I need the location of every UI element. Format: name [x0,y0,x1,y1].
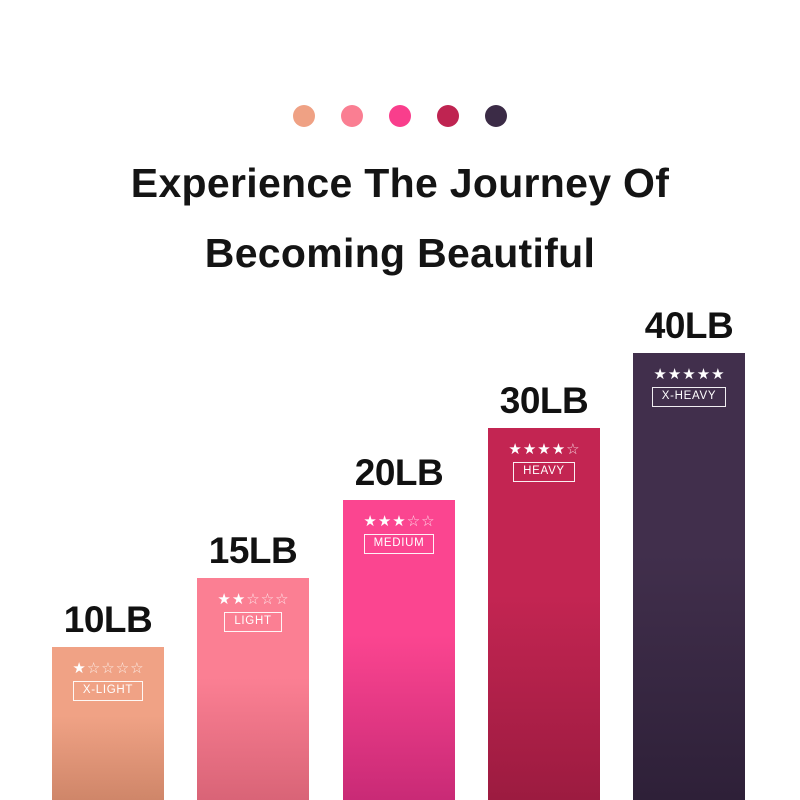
bar-30lb-fill [488,428,600,800]
bar-40lb-grade-label: X-HEAVY [652,387,727,407]
bar-30lb[interactable]: 30LB★★★★☆HEAVY [488,428,600,800]
star-empty-icon: ☆ [261,592,274,607]
star-filled-icon: ★ [523,442,536,457]
bar-40lb-star-rating: ★★★★★ [653,367,724,382]
bar-15lb-star-rating: ★★☆☆☆ [217,592,288,607]
star-empty-icon: ☆ [421,514,434,529]
star-filled-icon: ★ [508,442,521,457]
bar-30lb-badge: ★★★★☆HEAVY [488,442,600,482]
bar-15lb-grade-label: LIGHT [224,612,281,632]
star-empty-icon: ☆ [566,442,579,457]
star-empty-icon: ☆ [246,592,259,607]
star-filled-icon: ★ [537,442,550,457]
star-filled-icon: ★ [711,367,724,382]
star-filled-icon: ★ [682,367,695,382]
bar-10lb-weight-label: 10LB [64,599,152,641]
bar-30lb-grade-label: HEAVY [513,462,575,482]
bar-20lb-badge: ★★★☆☆MEDIUM [343,514,455,554]
resistance-bar-chart: 10LB★☆☆☆☆X-LIGHT15LB★★☆☆☆LIGHT20LB★★★☆☆M… [0,0,800,800]
star-empty-icon: ☆ [116,661,129,676]
bar-30lb-star-rating: ★★★★☆ [508,442,579,457]
star-filled-icon: ★ [552,442,565,457]
star-empty-icon: ☆ [275,592,288,607]
bar-20lb-grade-label: MEDIUM [364,534,435,554]
star-empty-icon: ☆ [101,661,114,676]
bar-40lb[interactable]: 40LB★★★★★X-HEAVY [633,353,745,800]
star-filled-icon: ★ [232,592,245,607]
star-filled-icon: ★ [72,661,85,676]
bar-10lb-star-rating: ★☆☆☆☆ [72,661,143,676]
star-filled-icon: ★ [378,514,391,529]
promo-poster: Experience The Journey Of Becoming Beaut… [0,0,800,800]
star-filled-icon: ★ [668,367,681,382]
star-filled-icon: ★ [697,367,710,382]
star-filled-icon: ★ [363,514,376,529]
bar-15lb-weight-label: 15LB [209,530,297,572]
bar-15lb-badge: ★★☆☆☆LIGHT [197,592,309,632]
bar-30lb-weight-label: 30LB [500,380,588,422]
bar-10lb-grade-label: X-LIGHT [73,681,143,701]
bar-10lb[interactable]: 10LB★☆☆☆☆X-LIGHT [52,647,164,800]
bar-20lb-weight-label: 20LB [355,452,443,494]
star-filled-icon: ★ [653,367,666,382]
bar-20lb[interactable]: 20LB★★★☆☆MEDIUM [343,500,455,800]
bar-40lb-fill [633,353,745,800]
star-empty-icon: ☆ [130,661,143,676]
bar-20lb-star-rating: ★★★☆☆ [363,514,434,529]
bar-40lb-weight-label: 40LB [645,305,733,347]
bar-10lb-badge: ★☆☆☆☆X-LIGHT [52,661,164,701]
star-empty-icon: ☆ [407,514,420,529]
bar-15lb[interactable]: 15LB★★☆☆☆LIGHT [197,578,309,800]
star-empty-icon: ☆ [87,661,100,676]
bar-40lb-badge: ★★★★★X-HEAVY [633,367,745,407]
star-filled-icon: ★ [217,592,230,607]
star-filled-icon: ★ [392,514,405,529]
